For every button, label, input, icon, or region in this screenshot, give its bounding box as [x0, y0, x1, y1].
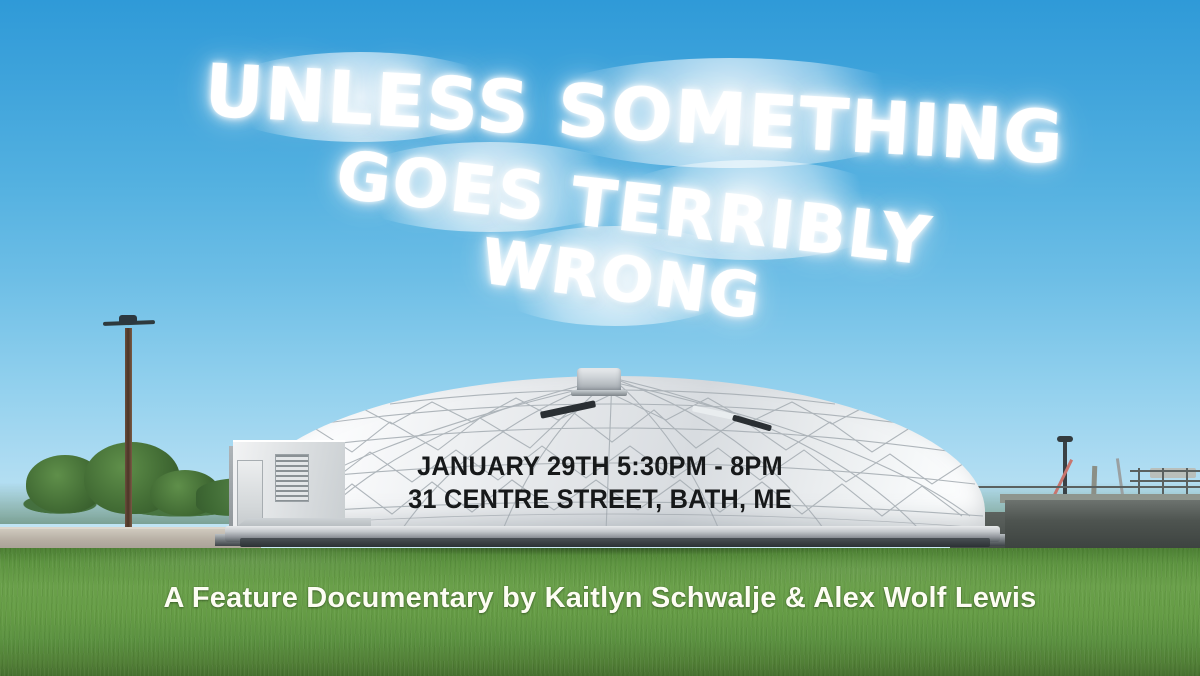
- utility-pole-fixture: [119, 315, 137, 324]
- utility-pole: [125, 328, 132, 553]
- dome-roof-vent-lip: [571, 390, 627, 396]
- event-address: 31 CENTRE STREET, BATH, ME: [36, 483, 1164, 516]
- credit-line: A Feature Documentary by Kaitlyn Schwalj…: [0, 582, 1200, 615]
- event-poster: UNLESS SOMETHING GOES TERRIBLY WRONG JAN…: [0, 0, 1200, 676]
- event-date-time: JANUARY 29TH 5:30PM - 8PM: [36, 450, 1164, 483]
- dome-base-shadow: [240, 538, 990, 547]
- light-pole-lamp: [1057, 436, 1073, 442]
- event-details: JANUARY 29TH 5:30PM - 8PM 31 CENTRE STRE…: [0, 450, 1200, 516]
